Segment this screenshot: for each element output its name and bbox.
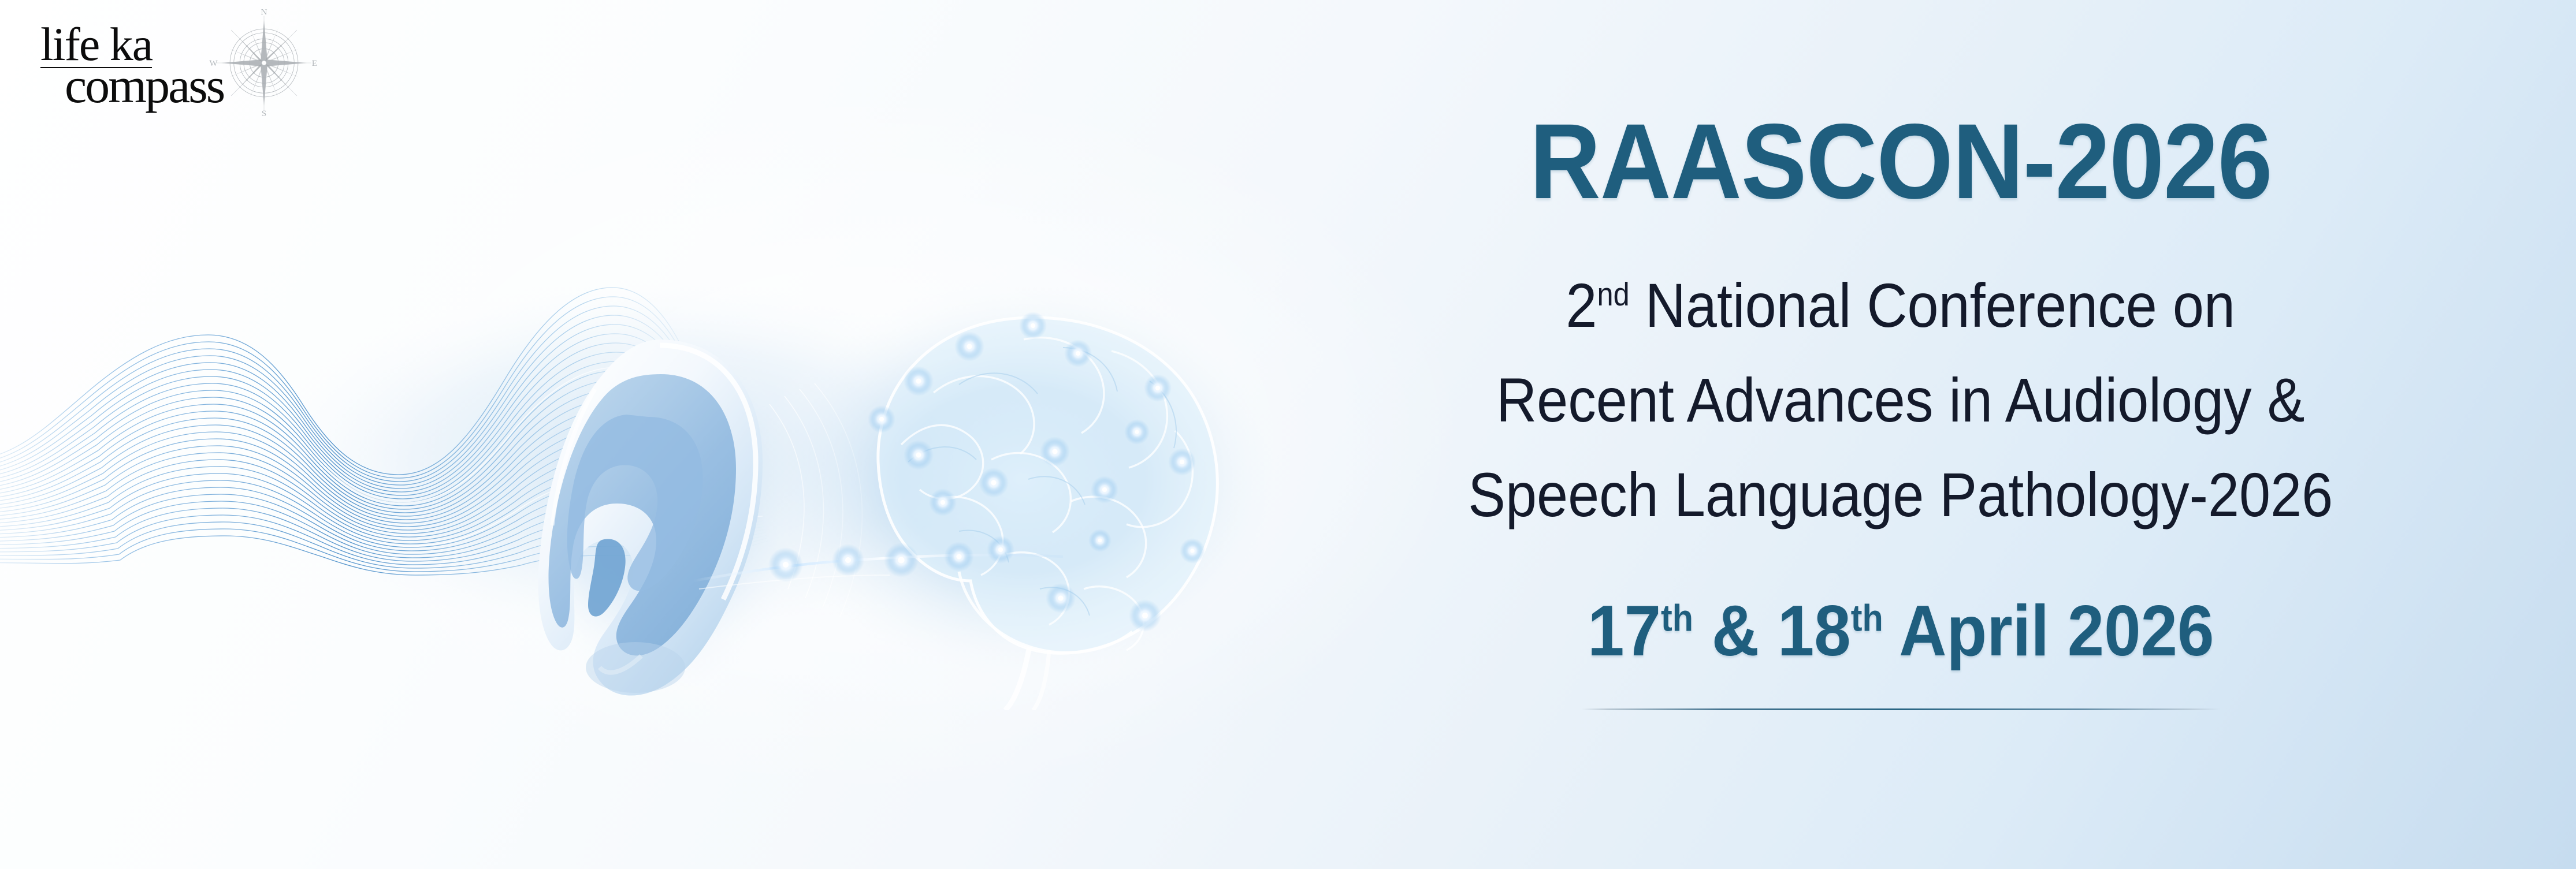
glowing-brain (751, 271, 1294, 710)
conference-banner: N E S W life ka compass (0, 0, 2576, 869)
conference-date: 17th & 18th April 2026 (1588, 595, 2214, 667)
subtitle-ordinal-number: 2 (1566, 270, 1597, 340)
subtitle-line-1-rest: National Conference on (1630, 270, 2235, 340)
subtitle-line-3: Speech Language Pathology-2026 (1468, 447, 2333, 542)
subtitle-line-1: 2nd National Conference on (1468, 258, 2333, 353)
logo-wordmark: life ka compass (40, 23, 295, 107)
date-day-1-suffix: th (1661, 598, 1693, 639)
compass-label-south: S (262, 109, 266, 118)
date-day-2-suffix: th (1850, 598, 1883, 639)
subtitle-ordinal-suffix: nd (1597, 276, 1630, 312)
date-separator: & (1693, 591, 1778, 671)
date-day-2: 18 (1777, 591, 1850, 671)
logo-life-ka-compass: N E S W life ka compass (36, 12, 359, 115)
date-month-year: April 2026 (1883, 591, 2214, 671)
logo-line-2: compass (65, 65, 295, 107)
compass-label-east: E (312, 58, 317, 68)
divider-rule (1582, 708, 2220, 710)
conference-subtitle: 2nd National Conference on Recent Advanc… (1468, 258, 2333, 542)
subtitle-line-2: Recent Advances in Audiology & (1468, 353, 2333, 447)
conference-text-block: RAASCON-2026 2nd National Conference on … (1404, 87, 2397, 808)
date-day-1: 17 (1588, 591, 1661, 671)
soundwave-ear-brain-illustration (0, 191, 1317, 710)
page-title: RAASCON-2026 (1530, 109, 2272, 215)
illustration-svg (0, 191, 1317, 710)
compass-label-north: N (261, 8, 267, 17)
